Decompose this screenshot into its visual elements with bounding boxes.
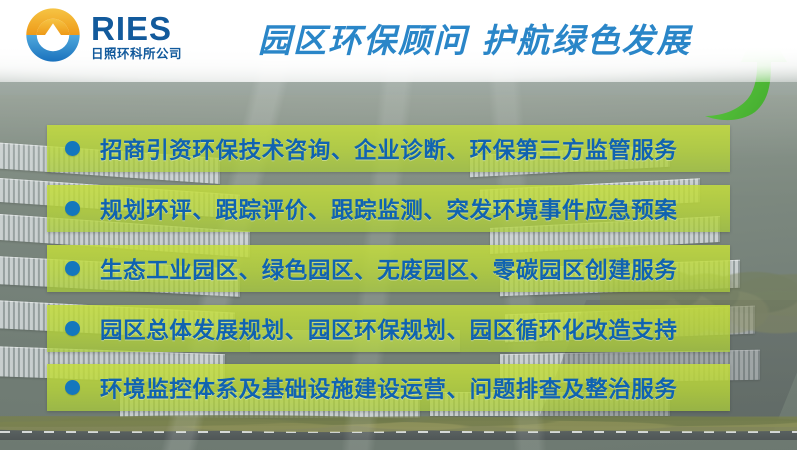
ries-circular-logo-icon [24, 6, 82, 64]
logo-company-cn: 日照环科所公司 [91, 48, 182, 61]
bullet-dot-icon [65, 201, 80, 216]
service-item[interactable]: 规划环评、跟踪评价、跟踪监测、突发环境事件应急预案 [47, 185, 730, 232]
service-item[interactable]: 生态工业园区、绿色园区、无废园区、零碳园区创建服务 [47, 245, 730, 292]
bullet-dot-icon [65, 380, 80, 395]
service-item[interactable]: 园区总体发展规划、园区环保规划、园区循环化改造支持 [47, 305, 730, 352]
bullet-dot-icon [65, 261, 80, 276]
page-title: 园区环保顾问 护航绿色发展 [258, 14, 692, 62]
service-item-label: 招商引资环保技术咨询、企业诊断、环保第三方监管服务 [100, 133, 678, 165]
service-item[interactable]: 环境监控体系及基础设施建设运营、问题排查及整治服务 [47, 364, 730, 411]
service-item-label: 规划环评、跟踪评价、跟踪监测、突发环境事件应急预案 [100, 193, 678, 225]
poster-stage: RIES 日照环科所公司 园区环保顾问 护航绿色发展 招商引资环保技术咨询、企业… [0, 0, 797, 450]
header-band: RIES 日照环科所公司 园区环保顾问 护航绿色发展 [0, 0, 797, 82]
bullet-dot-icon [65, 141, 80, 156]
bullet-dot-icon [65, 321, 80, 336]
brand-wordmark: RIES 日照环科所公司 [91, 10, 182, 61]
service-item-label: 环境监控体系及基础设施建设运营、问题排查及整治服务 [100, 372, 678, 404]
service-item-label: 生态工业园区、绿色园区、无废园区、零碳园区创建服务 [100, 253, 678, 285]
brand-logo[interactable]: RIES 日照环科所公司 [24, 6, 182, 64]
logo-ries-text: RIES [91, 12, 182, 45]
service-item-label: 园区总体发展规划、园区环保规划、园区循环化改造支持 [100, 313, 678, 345]
service-item[interactable]: 招商引资环保技术咨询、企业诊断、环保第三方监管服务 [47, 125, 730, 172]
